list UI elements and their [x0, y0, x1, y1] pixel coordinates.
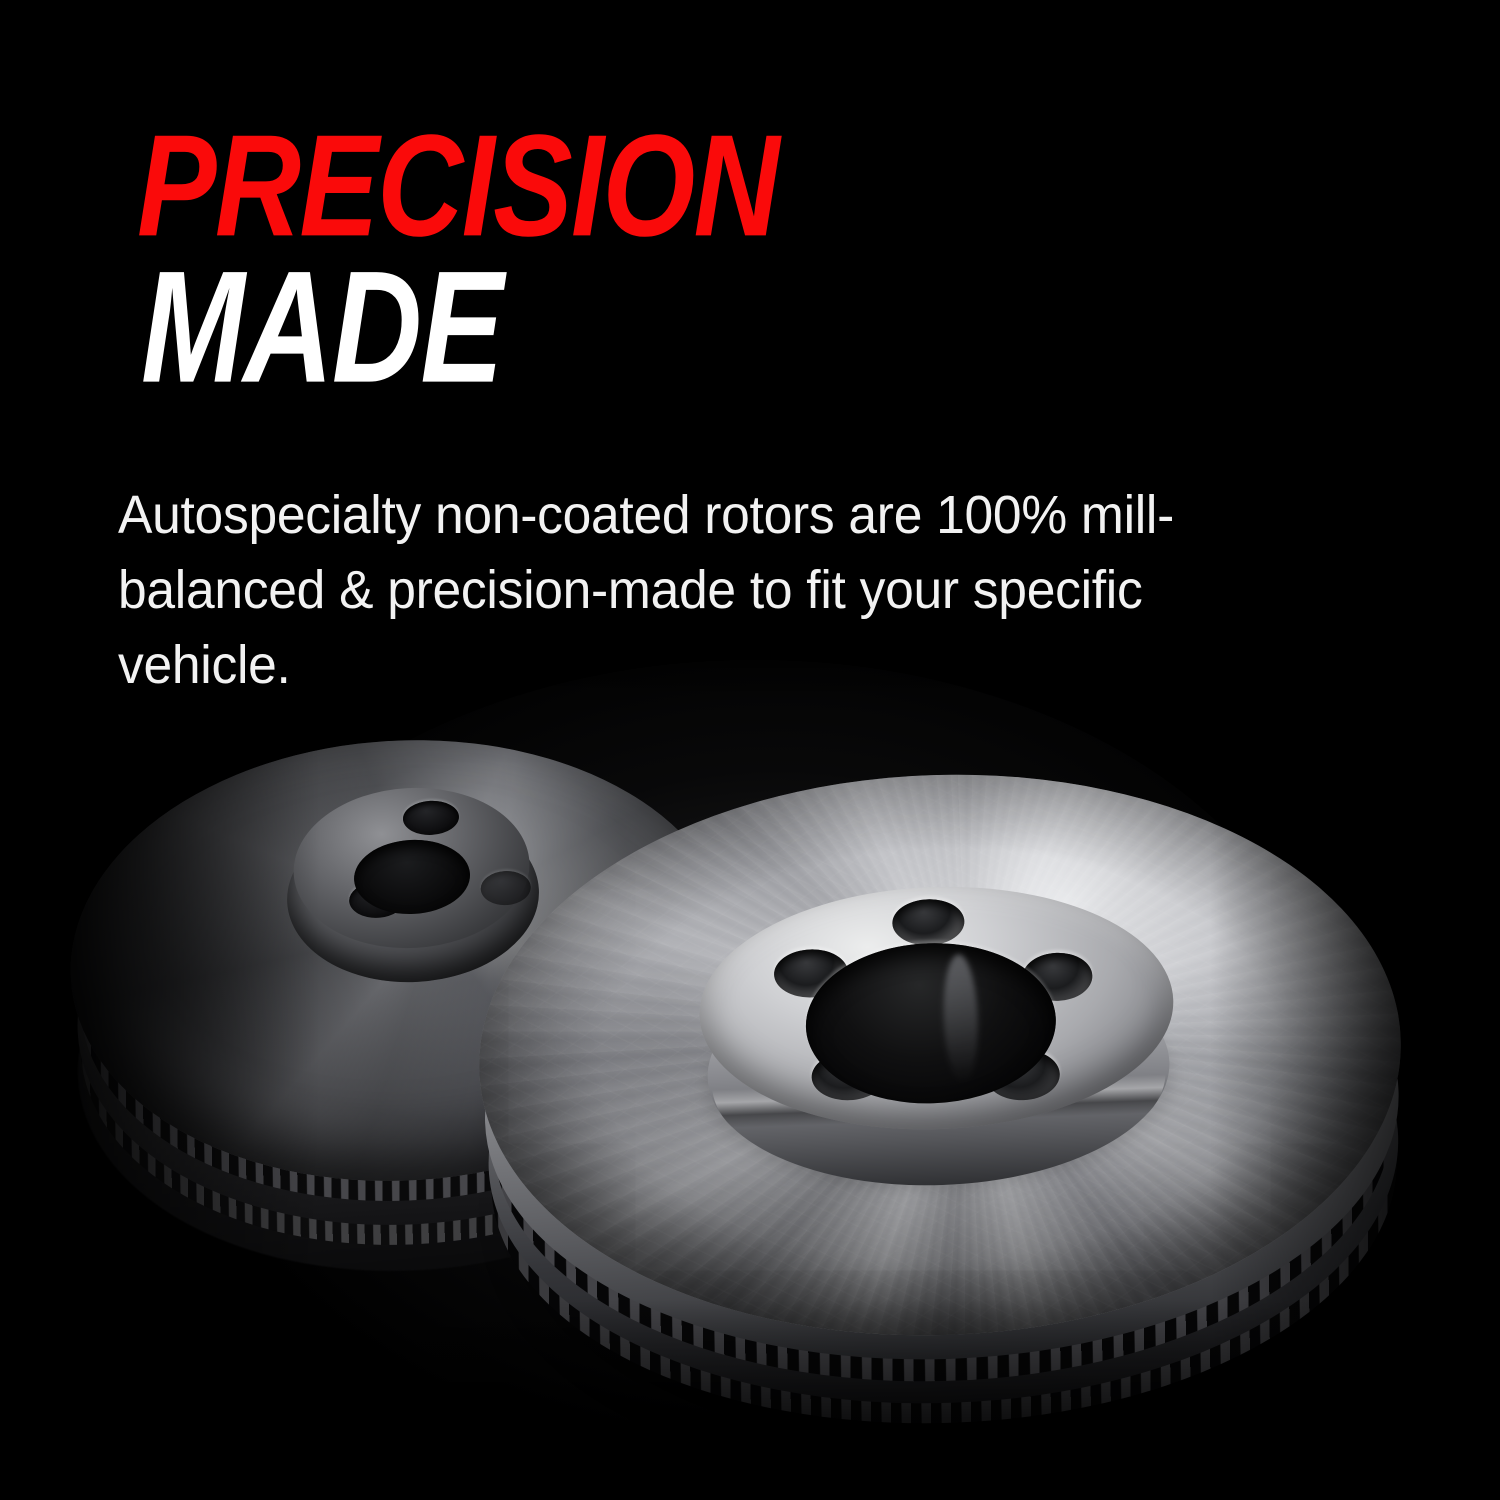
- product-photo: [0, 600, 1500, 1500]
- headline-line-precision: PRECISION: [137, 114, 778, 259]
- body-copy: Autospecialty non-coated rotors are 100%…: [118, 478, 1245, 703]
- promo-banner: PRECISION MADE Autospecialty non-coated …: [0, 0, 1500, 1500]
- front-brake-rotor: [431, 638, 1448, 1472]
- headline-block: PRECISION MADE: [0, 0, 1500, 420]
- headline-line-made: MADE: [141, 248, 502, 407]
